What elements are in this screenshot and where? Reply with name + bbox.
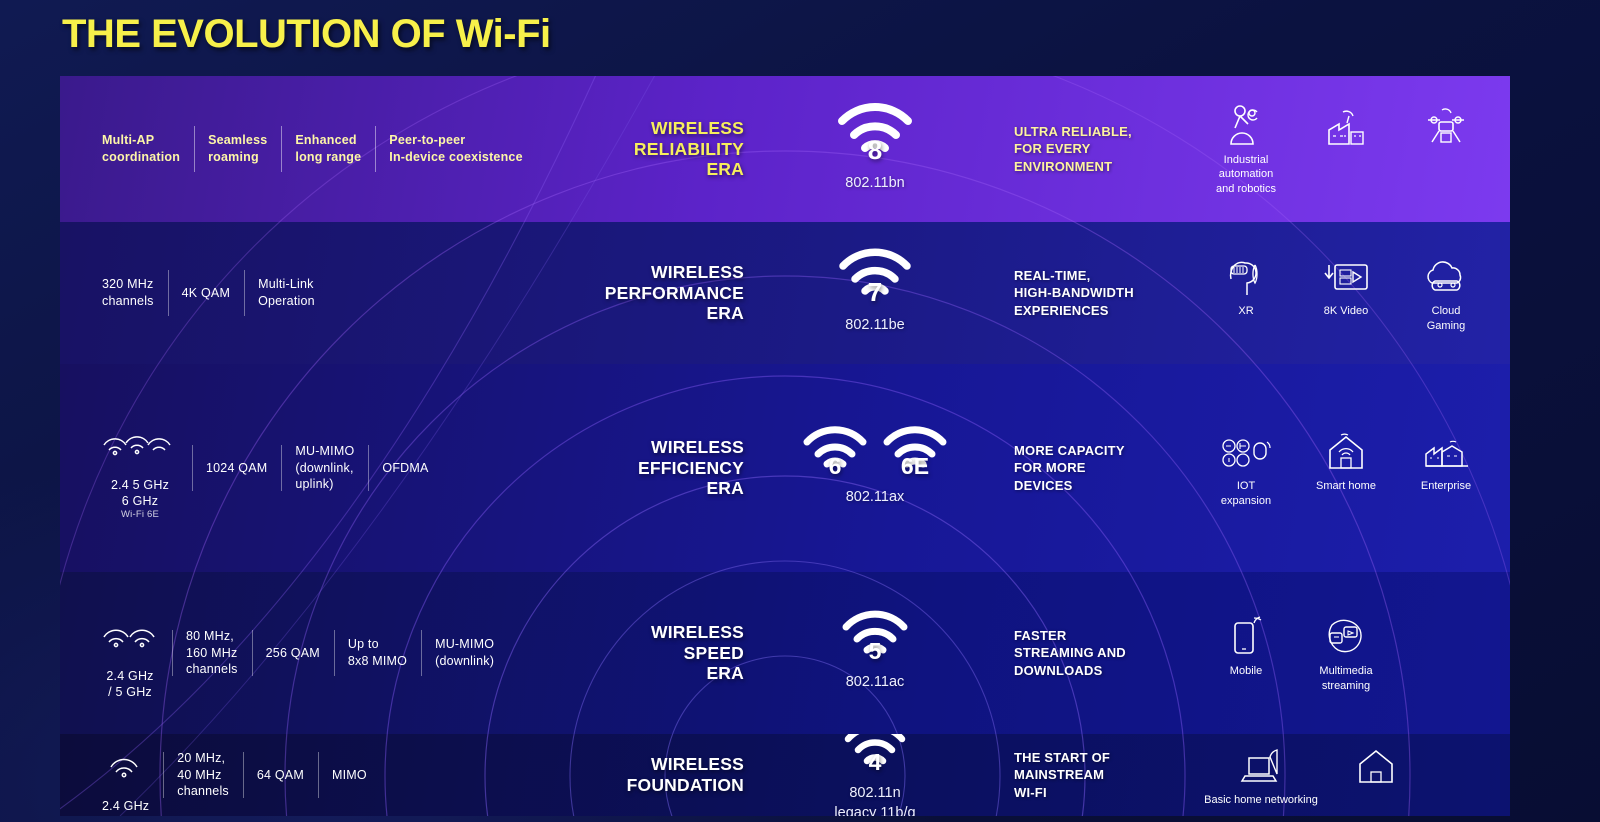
use-case-item: Cloud Gaming — [1398, 253, 1494, 333]
use-case-label: Multimedia streaming — [1319, 664, 1372, 693]
dual-band-icon — [102, 605, 158, 668]
benefit-label: ULTRA RELIABLE, FOR EVERY ENVIRONMENT — [1000, 123, 1180, 176]
house-icon — [1356, 742, 1396, 786]
era-row-wifi8: Multi-AP coordination Seamless roaming E… — [60, 76, 1510, 222]
generation-number: 8 — [836, 135, 914, 166]
factory-icon — [1325, 102, 1367, 146]
spec-chip: OFDMA — [368, 460, 442, 477]
spec-chip: 320 MHz channels — [88, 276, 168, 310]
smartphone-icon — [1227, 613, 1265, 657]
use-case-item: Basic home networking — [1198, 742, 1324, 807]
spec-chip: Enhanced long range — [281, 132, 375, 166]
frequency-band-cell: 2.4 GHz / 5 GHz — [88, 605, 172, 700]
generation-number: 4 — [844, 749, 906, 776]
spec-chip: Multi-AP coordination — [88, 132, 194, 166]
smart-home-icon — [1325, 428, 1367, 472]
use-case-label: Industrial automation and robotics — [1198, 153, 1294, 196]
laptop-icon — [1239, 742, 1283, 786]
use-case-label: Enterprise — [1421, 479, 1471, 493]
frequency-band-label: 2.4 GHz / 5 GHz — [106, 668, 153, 701]
era-label: WIRELESS PERFORMANCE ERA — [540, 262, 750, 324]
benefit-label: FASTER STREAMING AND DOWNLOADS — [1000, 627, 1180, 680]
page-title: THE EVOLUTION OF Wi-Fi — [62, 12, 551, 57]
enterprise-icon — [1422, 428, 1470, 472]
spec-list: 2.4 GHz / 5 GHz 80 MHz, 160 MHz channels… — [60, 572, 540, 734]
use-case-label: 8K Video — [1324, 304, 1368, 318]
use-case-label: XR — [1238, 304, 1253, 318]
use-case-label: Mobile — [1230, 664, 1262, 678]
generation-number: 6 — [803, 453, 867, 480]
evolution-chart: Multi-AP coordination Seamless roaming E… — [60, 76, 1510, 816]
generation-badge: 4 802.11n legacy 11b/g — [750, 734, 1000, 816]
use-case-item: Multi-dwelling units — [1498, 102, 1510, 182]
triple-band-icon — [102, 414, 178, 477]
generation-badge: 8 802.11bn — [750, 105, 1000, 194]
use-case-item — [1398, 102, 1494, 153]
wifi-signal-icon-6e: 6E — [883, 429, 947, 476]
frequency-band-sublabel: Wi-Fi 6E — [121, 509, 159, 522]
spec-list: 2.4 5 GHz 6 GHz Wi-Fi 6E 1024 QAM MU-MIM… — [60, 364, 540, 572]
era-row-wifi7: 320 MHz channels 4K QAM Multi-Link Opera… — [60, 222, 1510, 364]
wifi-signal-icon: 7 — [838, 251, 912, 304]
spec-list: 320 MHz channels 4K QAM Multi-Link Opera… — [60, 222, 540, 364]
spec-chip: Peer-to-peer In-device coexistence — [375, 132, 536, 166]
generation-badge: 5 802.11ac — [750, 614, 1000, 693]
use-case-list: Industrial automation and robotics — [1180, 102, 1510, 196]
spec-chip: MIMO — [318, 767, 381, 784]
use-case-item: Mobile — [1198, 613, 1294, 678]
frequency-band-cell: 2.4 5 GHz 6 GHz Wi-Fi 6E — [88, 414, 192, 522]
generation-number: 6E — [883, 453, 947, 480]
era-row-wifi4: 2.4 GHz 20 MHz, 40 MHz channels 64 QAM M… — [60, 734, 1510, 816]
use-case-label: Cloud Gaming — [1427, 304, 1466, 333]
use-case-list: Basic home networking — [1180, 742, 1510, 807]
wifi-signal-icon: 8 — [836, 105, 914, 162]
spec-chip: MU-MIMO (downlink, uplink) — [281, 443, 368, 494]
standard-label: 802.11n legacy 11b/g — [834, 784, 915, 816]
iot-devices-icon — [1220, 428, 1272, 472]
use-case-item: Smart home — [1298, 428, 1394, 493]
wifi-signal-icon: 6 — [803, 429, 867, 476]
spec-chip: 64 QAM — [243, 767, 318, 784]
use-case-label: Basic home networking — [1204, 793, 1318, 807]
generation-number: 5 — [842, 638, 908, 665]
generation-badge: 6 6E 802.11ax — [750, 429, 1000, 508]
standard-label: 802.11be — [845, 316, 904, 336]
use-case-item: Real-time collaboration — [1498, 253, 1510, 333]
use-case-item: Multimedia streaming — [1298, 613, 1394, 693]
benefit-label: THE START OF MAINSTREAM WI-FI — [1000, 749, 1180, 802]
era-row-wifi5: 2.4 GHz / 5 GHz 80 MHz, 160 MHz channels… — [60, 572, 1510, 734]
use-case-label: Smart home — [1316, 479, 1376, 493]
spec-chip: MU-MIMO (downlink) — [421, 636, 508, 670]
generation-badge: 7 802.11be — [750, 251, 1000, 336]
benefit-label: REAL-TIME, HIGH-BANDWIDTH EXPERIENCES — [1000, 267, 1180, 320]
era-label: WIRELESS SPEED ERA — [540, 622, 750, 684]
benefit-label: MORE CAPACITY FOR MORE DEVICES — [1000, 442, 1180, 495]
wifi-signal-icon: 4 — [844, 734, 906, 772]
use-case-item: Enterprise — [1398, 428, 1494, 493]
standard-label: 802.11ax — [846, 488, 905, 508]
era-label: WIRELESS RELIABILITY ERA — [540, 118, 750, 180]
use-case-list: IOT expansion Smart home Enterprise — [1180, 428, 1510, 508]
standard-label: 802.11ac — [846, 673, 905, 693]
standard-label: 802.11bn — [845, 174, 904, 194]
spec-chip: 1024 QAM — [192, 460, 281, 477]
use-case-item — [1328, 742, 1424, 793]
drone-icon — [1422, 102, 1470, 146]
use-case-item: IOT expansion — [1198, 428, 1294, 508]
frequency-band-cell: 2.4 GHz — [88, 736, 163, 815]
spec-chip: Seamless roaming — [194, 132, 281, 166]
use-case-item: 8K Video — [1298, 253, 1394, 318]
spec-chip: 80 MHz, 160 MHz channels — [172, 628, 252, 679]
spec-chip: 20 MHz, 40 MHz channels — [163, 750, 243, 801]
use-case-list: XR 8K Video Cloud Gaming — [1180, 253, 1510, 333]
multimedia-icon — [1322, 613, 1370, 657]
frequency-band-label: 2.4 5 GHz 6 GHz — [111, 477, 169, 510]
use-case-list: Mobile Multimedia streaming — [1180, 613, 1510, 693]
use-case-item: Industrial automation and robotics — [1198, 102, 1294, 196]
spec-list: Multi-AP coordination Seamless roaming E… — [60, 76, 540, 222]
spec-chip: Up to 8x8 MIMO — [334, 636, 421, 670]
use-case-item: XR — [1198, 253, 1294, 318]
generation-number: 7 — [838, 277, 912, 308]
frequency-band-label: 2.4 GHz — [102, 798, 149, 814]
single-band-icon — [109, 736, 143, 799]
era-row-wifi6: 2.4 5 GHz 6 GHz Wi-Fi 6E 1024 QAM MU-MIM… — [60, 364, 1510, 572]
video-player-icon — [1323, 253, 1369, 297]
era-label: WIRELESS FOUNDATION — [540, 754, 750, 795]
spec-chip: 256 QAM — [252, 645, 334, 662]
wifi-signal-icon: 5 — [842, 614, 908, 661]
cloud-gaming-icon — [1424, 253, 1468, 297]
robot-icon — [1226, 102, 1266, 146]
xr-headset-icon — [1225, 253, 1267, 297]
use-case-label: IOT expansion — [1221, 479, 1271, 508]
spec-chip: Multi-Link Operation — [244, 276, 329, 310]
spec-chip: 4K QAM — [168, 285, 244, 302]
use-case-item — [1298, 102, 1394, 153]
spec-list: 2.4 GHz 20 MHz, 40 MHz channels 64 QAM M… — [60, 734, 540, 816]
era-label: WIRELESS EFFICIENCY ERA — [540, 437, 750, 499]
